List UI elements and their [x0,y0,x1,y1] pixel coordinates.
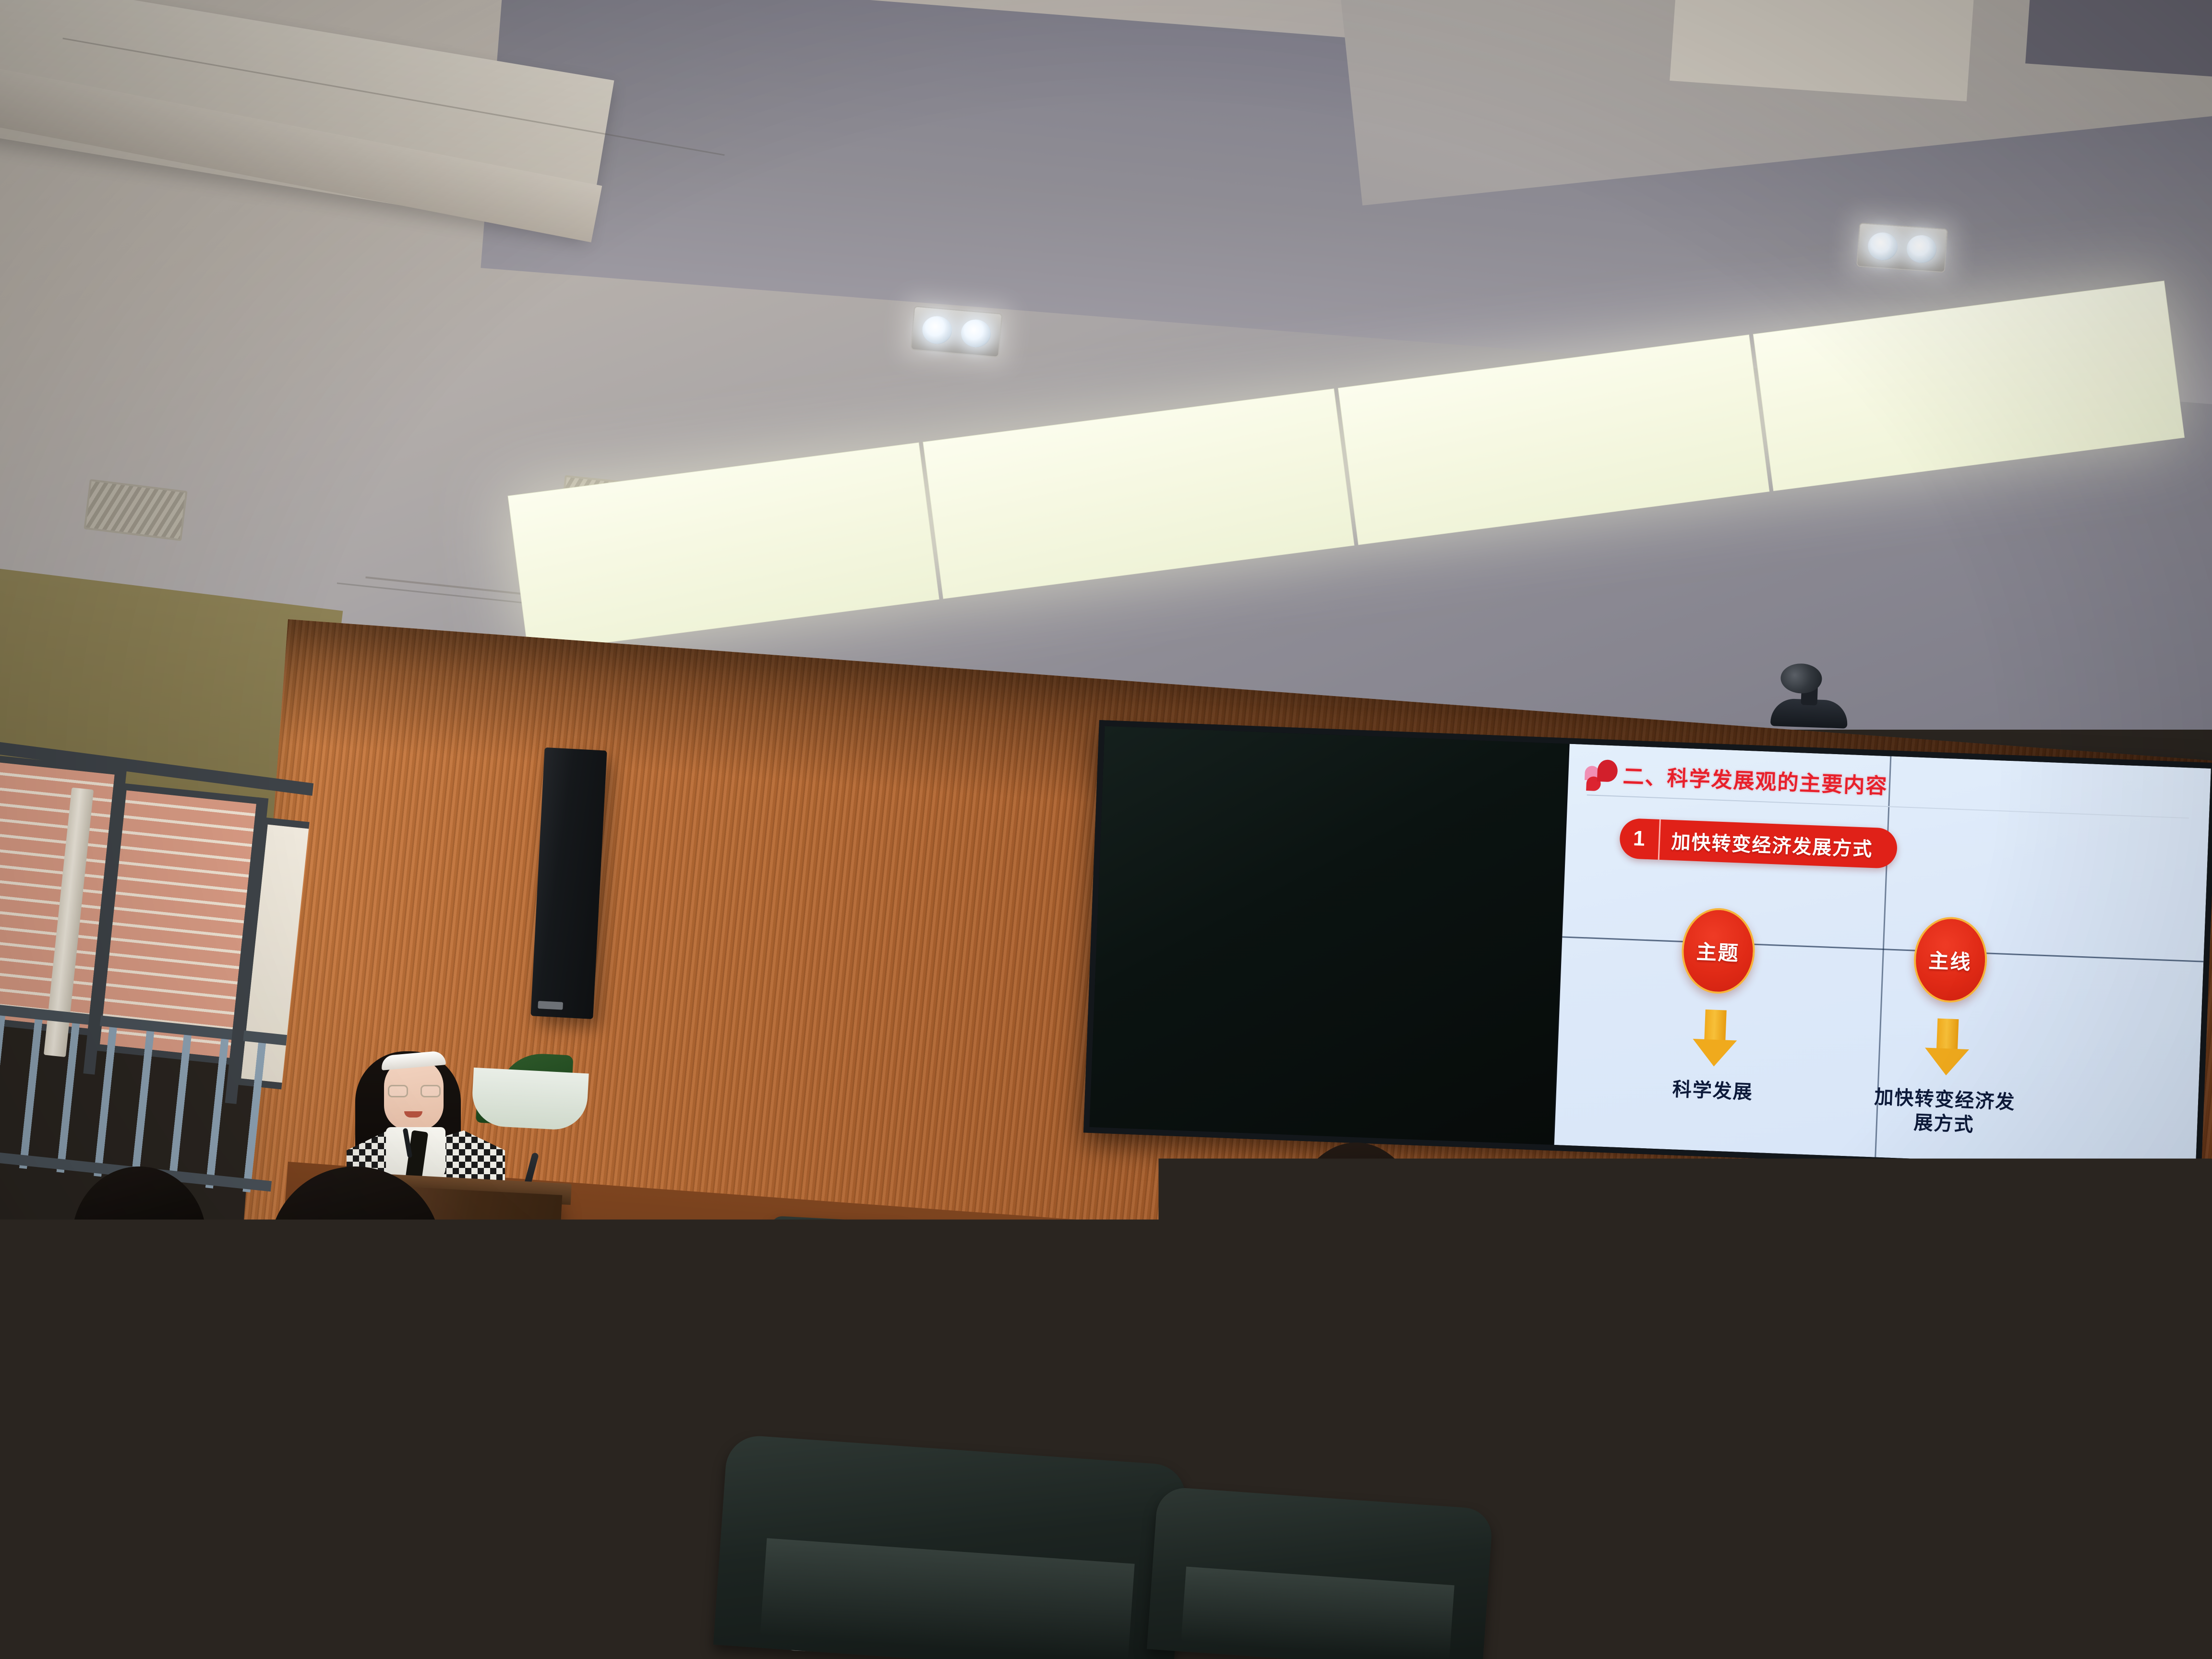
slide-section-badge: 1 加快转变经济发展方式 [1619,818,1898,869]
badge-text: 加快转变经济发展方式 [1659,826,1883,862]
glasses-lens-left [388,1085,408,1097]
lamp-icon [1906,234,1937,264]
recessed-downlight-icon [1856,223,1948,273]
arrow-shaft [1936,1018,1959,1051]
window-group [0,734,315,1199]
arrow-head [1923,1048,1969,1076]
recessed-downlight-icon [910,306,1002,358]
conference-chair[interactable] [764,1216,911,1367]
lamp-icon [960,318,992,349]
slide-header: 二、科学发展观的主要内容 [1584,757,2194,812]
conference-room-photo: 二、科学发展观的主要内容 1 加快转变经济发展方式 主题 科学发展 [0,0,2212,1659]
clover-flower-logo-icon [1584,757,1615,790]
branch-circle: 主线 [1912,916,1988,1004]
video-wall-dark-half [1089,726,1569,1145]
ptz-camera-icon [1770,668,1849,729]
branch-circle-label: 主题 [1696,936,1740,966]
presentation-slide: 二、科学发展观的主要内容 1 加快转变经济发展方式 主题 科学发展 [1554,744,2211,1170]
eyeglasses-icon [388,1085,441,1097]
branch-result-text: 科学发展 [1640,1076,1785,1106]
lamp-icon [1867,231,1899,261]
conference-chair[interactable] [2056,1283,2212,1434]
arrow-head [1692,1039,1737,1067]
slide-branch-right: 主线 加快转变经济发 展方式 [1872,914,2024,1139]
badge-number: 1 [1619,818,1660,860]
logo-petal-red-top [1597,759,1618,782]
branch-circle-label: 主线 [1928,944,1972,975]
branch-result-text: 加快转变经济发 展方式 [1872,1085,2018,1138]
slide-title: 二、科学发展观的主要内容 [1623,759,1888,800]
glasses-lens-right [421,1085,441,1097]
branch-circle: 主题 [1680,907,1756,995]
lamp-icon [921,315,953,345]
video-wall-display[interactable]: 二、科学发展观的主要内容 1 加快转变经济发展方式 主题 科学发展 [1083,720,2212,1176]
yellow-paper [0,1548,99,1599]
down-arrow-icon [1692,1009,1738,1067]
slide-branch-left: 主题 科学发展 [1640,905,1791,1106]
speaker-brand-logo [538,1001,563,1010]
attendee-front-woman [1315,1186,2035,1659]
arrow-shaft [1704,1010,1727,1042]
down-arrow-icon [1923,1018,1970,1076]
conference-chair[interactable] [713,1434,1188,1659]
hair-highlight [1623,1291,1747,1498]
